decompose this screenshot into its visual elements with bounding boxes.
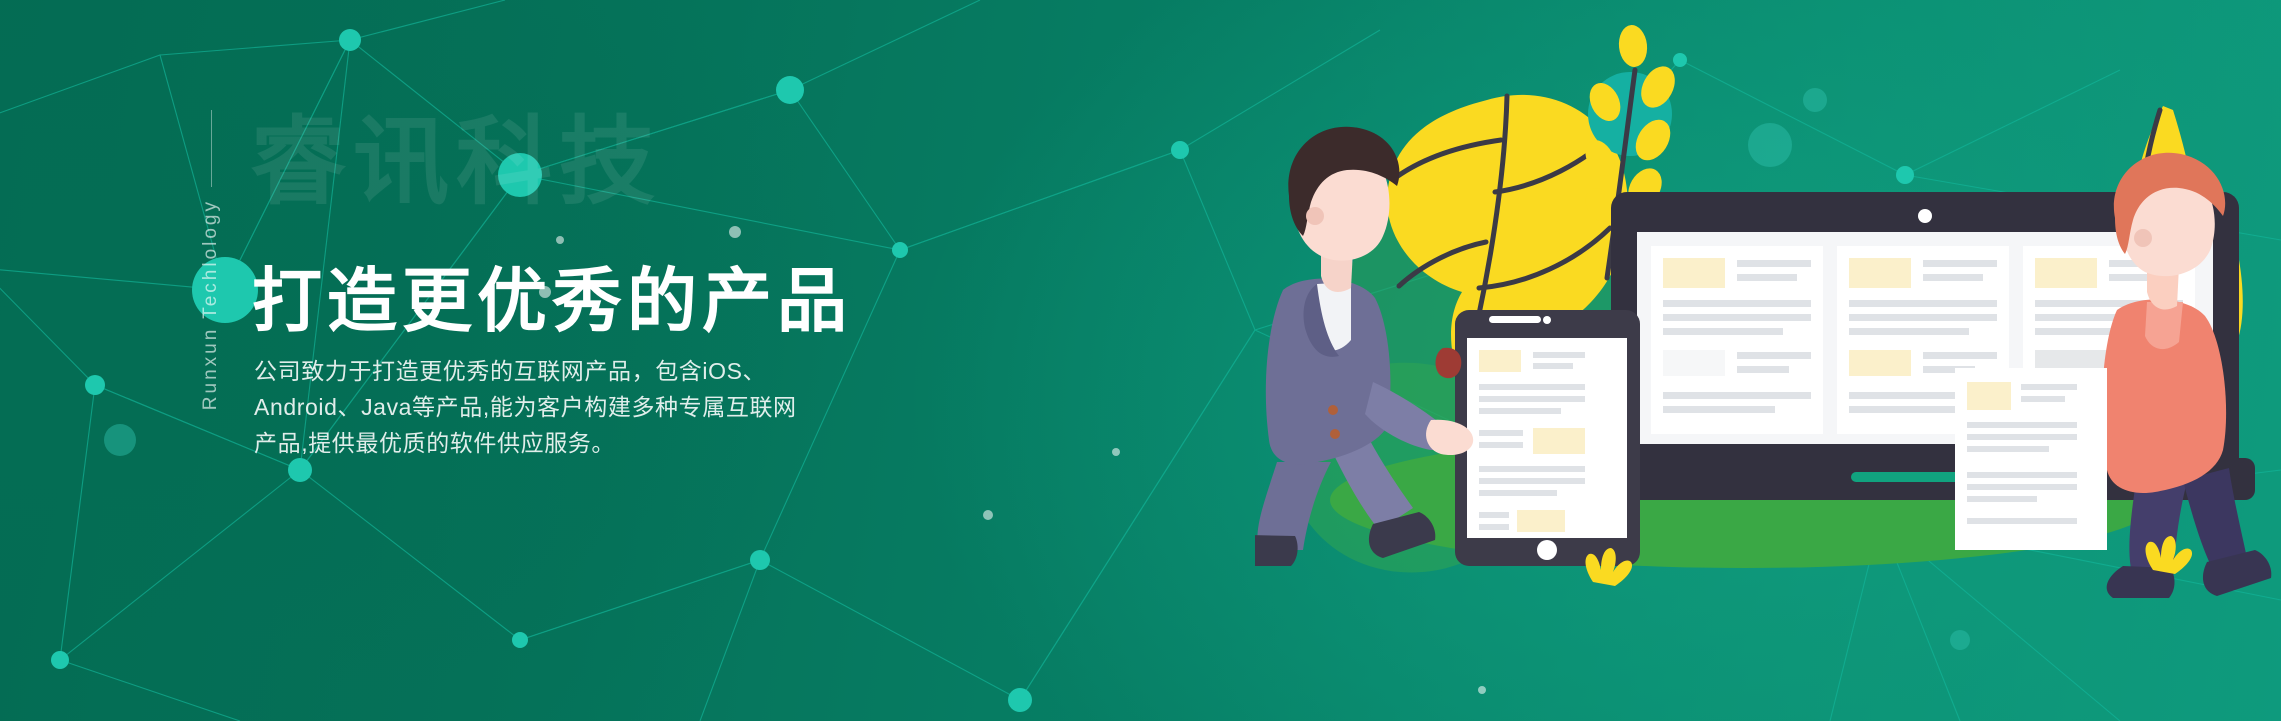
hero-banner: Runxun Techlology 睿讯科技 打造更优秀的产品 公司致力于打造更… <box>0 0 2281 721</box>
brand-vertical-block: Runxun Techlology <box>188 110 234 410</box>
ghost-title: 睿讯科技 <box>250 84 662 223</box>
vertical-divider-line <box>211 110 212 187</box>
page-title: 打造更优秀的产品 <box>252 245 852 346</box>
tablet-device <box>1455 310 1640 566</box>
teamwork-devices-illustration <box>1255 10 2281 710</box>
laptop-camera-dot <box>1918 209 1932 223</box>
tablet-home-button <box>1537 540 1557 560</box>
hero-description: 公司致力于打造更优秀的互联网产品，包含iOS、Android、Java等产品,能… <box>254 353 814 461</box>
paper-sheet <box>1955 368 2107 550</box>
brand-vertical-text: Runxun Techlology <box>200 199 222 410</box>
